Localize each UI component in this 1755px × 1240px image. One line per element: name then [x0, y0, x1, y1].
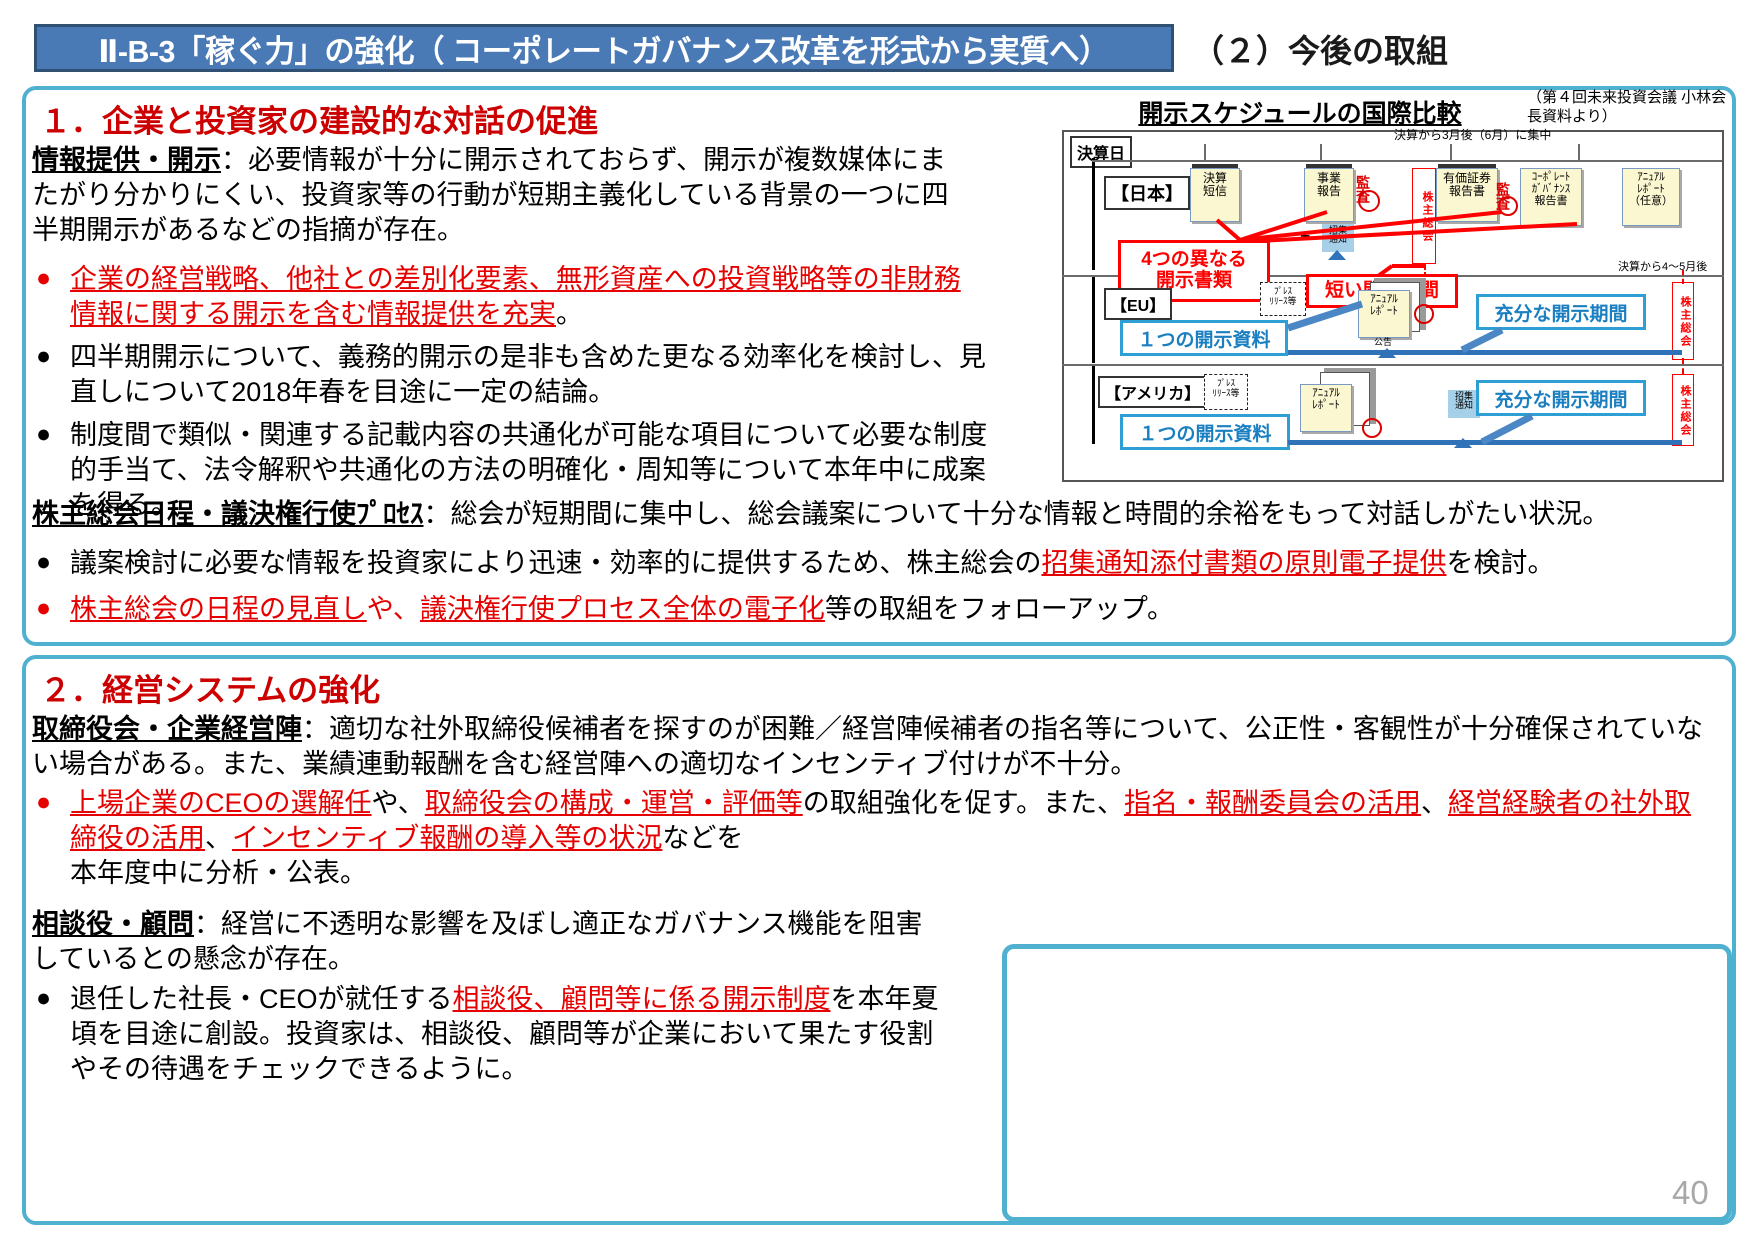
eu-annual-report: ｱﾆｭｱﾙ ﾚﾎﾟｰﾄ [1358, 290, 1410, 338]
section-1-bullet-5-highlight-2: 議決権行使プロセス全体の電子化 [420, 594, 825, 624]
timeline-tick [1320, 144, 1322, 160]
eu-callout-one-document: １つの開示資料 [1120, 320, 1288, 356]
japan-concentration-note: 決算から3月後（6月）に集中 [1394, 126, 1551, 143]
section-1-bullet-5-highlight-1: 株主総会の日程の見直し [70, 594, 367, 624]
timeline-tick [1204, 144, 1206, 160]
bullet-dot-icon: ● [36, 786, 70, 819]
section-1-bullet-1-tail: 。 [556, 299, 583, 329]
bullet-dot-icon: ● [36, 340, 70, 373]
section-1-bullet-4-highlight: 招集通知添付書類の原則電子提供 [1041, 548, 1446, 578]
slide-header: Ⅱ-B-3「稼ぐ力」の強化（ コーポレートガバナンス改革を形式から実質へ） （２… [0, 0, 1755, 86]
section-1-paragraph-1: 情報提供・開示：必要情報が十分に開示されておらず、開示が複数媒体にまたがり分かり… [32, 143, 962, 248]
usa-callout-one-document: １つの開示資料 [1120, 414, 1290, 450]
japan-timeline-axis [1092, 160, 1722, 162]
section-2-bullet-2-highlight: 相談役、顧問等に係る開示制度 [453, 984, 831, 1014]
slide-subtitle: （２）今後の取組 [1192, 26, 1448, 72]
eu-period-note: 決算から4～5月後 [1618, 258, 1707, 274]
usa-shareholder-meeting-label: 株主総会 [1672, 374, 1694, 446]
section-1-heading: １．企業と投資家の建設的な対話の促進 [40, 96, 598, 141]
section-1-bullet-2: ● 四半期開示について、義務的開示の是非も含めた更なる効率化を検討し、見直しにつ… [36, 340, 996, 410]
section-1-bullet-1: ● 企業の経営戦略、他社との差別化要素、無形資産への投資戦略等の非財務情報に関す… [36, 262, 976, 332]
usa-fiscal-line [1092, 366, 1095, 444]
japan-doc-yuka-shoken: 有価証券 報告書 [1436, 168, 1498, 222]
eu-publish-label: 公告 [1374, 335, 1392, 348]
section-1-bullet-4-post: を検討。 [1446, 548, 1554, 578]
section-2-bullet-1-highlight-5: インセンティブ報酬の導入等の状況 [232, 823, 662, 853]
section-1-body-2: ：総会が短期間に集中し、総会議案について十分な情報と時間的余裕をもって対話しがた… [424, 499, 1610, 529]
audit-stamp-label-1: 監査 [1356, 175, 1370, 203]
japan-notice-of-meeting: 招集 通知 [1322, 224, 1354, 252]
country-label-eu: 【EU】 [1104, 288, 1172, 320]
section-1-bullet-1-highlight: 企業の経営戦略、他社との差別化要素、無形資産への投資戦略等の非財務情報に関する開… [70, 264, 961, 329]
timeline-marker-triangle [1328, 250, 1346, 260]
plus-sign: + [1300, 226, 1311, 247]
section-2-bullet-1-t5: などを [662, 823, 743, 853]
timeline-tick [1578, 144, 1580, 160]
section-1-bullet-5-post: 等の取組をフォローアップ。 [825, 594, 1174, 624]
section-1-lead-1: 情報提供・開示 [32, 145, 221, 175]
section-1-bullet-2-text: 四半期開示について、義務的開示の是非も含めた更なる効率化を検討し、見直しについて… [70, 340, 996, 410]
japan-shareholder-meeting-label: 株主総会 [1412, 168, 1436, 264]
bullet-dot-icon: ● [36, 418, 70, 451]
section-1-bullet-5: ● 株主総会の日程の見直しや、議決権行使プロセス全体の電子化等の取組をフォローア… [36, 592, 1716, 627]
section-1-bullet-5-mid: や、 [367, 594, 420, 624]
section-1-paragraph-2: 株主総会日程・議決権行使ﾌﾟﾛｾｽ：総会が短期間に集中し、総会議案について十分な… [32, 497, 1712, 532]
section-2-bullet-1-t2: の取組強化を促す。また、 [803, 788, 1124, 818]
section-2-bullet-1-highlight-2: 取締役会の構成・運営・評価等 [425, 788, 803, 818]
section-1-bullet-4-pre: 議案検討に必要な情報を投資家により迅速・効率的に提供するため、株主総会の [70, 548, 1041, 578]
section-2-lead-2: 相談役・顧問 [32, 909, 194, 939]
usa-timeline-marker [1454, 438, 1472, 448]
eu-callout-sufficient-period: 充分な開示期間 [1476, 294, 1646, 330]
section-2-bullet-1-t3: 、 [1421, 788, 1448, 818]
usa-callout-sufficient-period: 充分な開示期間 [1476, 380, 1646, 416]
country-label-japan: 【日本】 [1104, 176, 1190, 210]
section-2-heading: ２．経営システムの強化 [40, 665, 380, 710]
eu-timeline-bar [1288, 350, 1682, 355]
eu-press-release-box: ﾌﾟﾚｽ ﾘﾘｰｽ等 [1260, 282, 1306, 316]
country-label-usa: 【アメリカ】 [1098, 376, 1207, 408]
axis-start-label: 決算日 [1070, 136, 1132, 168]
japan-doc-annual-report: ｱﾆｭｱﾙ ﾚﾎﾟｰﾄ （任意） [1622, 168, 1680, 226]
timeline-tick [1450, 144, 1452, 160]
japan-doc-kessan-tanshin: 決算 短信 [1190, 168, 1240, 222]
eu-shareholder-meeting-label: 株主総会 [1672, 282, 1694, 360]
section-2-bullet-1: ● 上場企業のCEOの選解任や、取締役会の構成・運営・評価等の取組強化を促す。ま… [36, 786, 1716, 891]
audit-stamp-icon [1362, 418, 1382, 438]
eu-meeting-dash-top [1682, 270, 1684, 284]
diagram-row-divider-2 [1062, 364, 1724, 366]
usa-timeline-bar [1288, 440, 1682, 445]
japan-doc-jigyo-hokoku: 事業 報告 [1304, 168, 1354, 222]
audit-stamp-label-2: 監査 [1496, 182, 1510, 210]
usa-annual-report: ｱﾆｭｱﾙ ﾚﾎﾟｰﾄ [1300, 384, 1352, 432]
disclosure-schedule-diagram: 開示スケジュールの国際比較 （第４回未来投資会議 小林会長資料より） 決算日 決… [1062, 92, 1730, 487]
eu-timeline-marker [1378, 348, 1396, 358]
section-1-bullet-4: ● 議案検討に必要な情報を投資家により迅速・効率的に提供するため、株主総会の招集… [36, 546, 1716, 581]
section-2-paragraph-1: 取締役会・企業経営陣：適切な社外取締役候補者を探すのが困難／経営陣候補者の指名等… [32, 712, 1712, 782]
section-2-bullet-2-pre: 退任した社長・CEOが就任する [70, 984, 453, 1014]
bullet-dot-icon: ● [36, 982, 70, 1015]
diagram-source-note: （第４回未来投資会議 小林会長資料より） [1527, 89, 1737, 127]
section-2-lead-1: 取締役会・企業経営陣 [32, 714, 302, 744]
page-number: 40 [1672, 1174, 1709, 1212]
section-2-bullet-1-t1: や、 [372, 788, 425, 818]
section-2-bullet-1-highlight-3: 指名・報酬委員会の活用 [1124, 788, 1421, 818]
bullet-dot-icon: ● [36, 592, 70, 625]
audit-stamp-icon [1414, 304, 1434, 324]
diagram-title: 開示スケジュールの国際比較 [1080, 94, 1520, 130]
section-2-bullet-1-line3: 本年度中に分析・公表。 [70, 858, 367, 888]
eu-fiscal-line [1092, 277, 1095, 363]
section-2-paragraph-2: 相談役・顧問：経営に不透明な影響を及ぼし適正なガバナンス機能を阻害しているとの懸… [32, 907, 932, 977]
section-2-bullet-1-t4: 、 [205, 823, 232, 853]
slide-title-bar: Ⅱ-B-3「稼ぐ力」の強化（ コーポレートガバナンス改革を形式から実質へ） [34, 24, 1174, 72]
bullet-dot-icon: ● [36, 262, 70, 295]
fiscal-close-vertical-line [1092, 158, 1095, 270]
usa-press-release-box: ﾌﾟﾚｽ ﾘﾘｰｽ等 [1204, 374, 1248, 410]
japan-doc-cg-report: ｺｰﾎﾟﾚｰﾄ ｶﾞﾊﾞﾅﾝｽ 報告書 [1520, 168, 1582, 226]
section-2-bullet-1-highlight-1: 上場企業のCEOの選解任 [70, 788, 372, 818]
slide-title-text: Ⅱ-B-3「稼ぐ力」の強化（ コーポレートガバナンス改革を形式から実質へ） [99, 26, 1110, 71]
section-2-bullet-2: ● 退任した社長・CEOが就任する相談役、顧問等に係る開示制度を本年夏頃を目途に… [36, 982, 956, 1087]
bullet-dot-icon: ● [36, 546, 70, 579]
section-1-lead-2: 株主総会日程・議決権行使ﾌﾟﾛｾｽ [32, 499, 424, 529]
section-3-panel [1002, 944, 1732, 1222]
